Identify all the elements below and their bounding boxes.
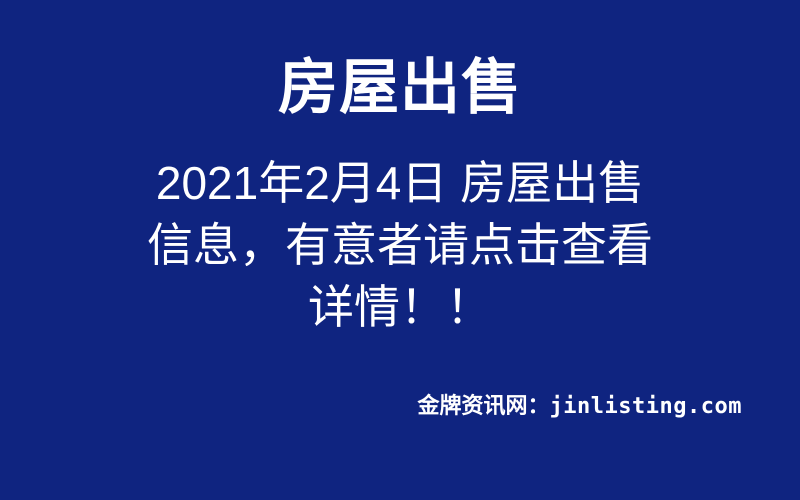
page-title: 房屋出售 <box>0 56 800 121</box>
site-name-label: 金牌资讯网： <box>418 393 550 418</box>
poster-body-text: 2021年2月4日 房屋出售 信息，有意者请点击查看 详情！！ <box>60 152 740 338</box>
body-line: 详情！！ <box>60 276 740 338</box>
body-line: 信息，有意者请点击查看 <box>60 214 740 276</box>
poster-canvas: 房屋出售 2021年2月4日 房屋出售 信息，有意者请点击查看 详情！！ 金牌资… <box>0 0 800 500</box>
site-domain-label: jinlisting.com <box>550 394 742 419</box>
body-line: 2021年2月4日 房屋出售 <box>60 152 740 214</box>
watermark-footer: 金牌资讯网：jinlisting.com <box>0 392 742 421</box>
